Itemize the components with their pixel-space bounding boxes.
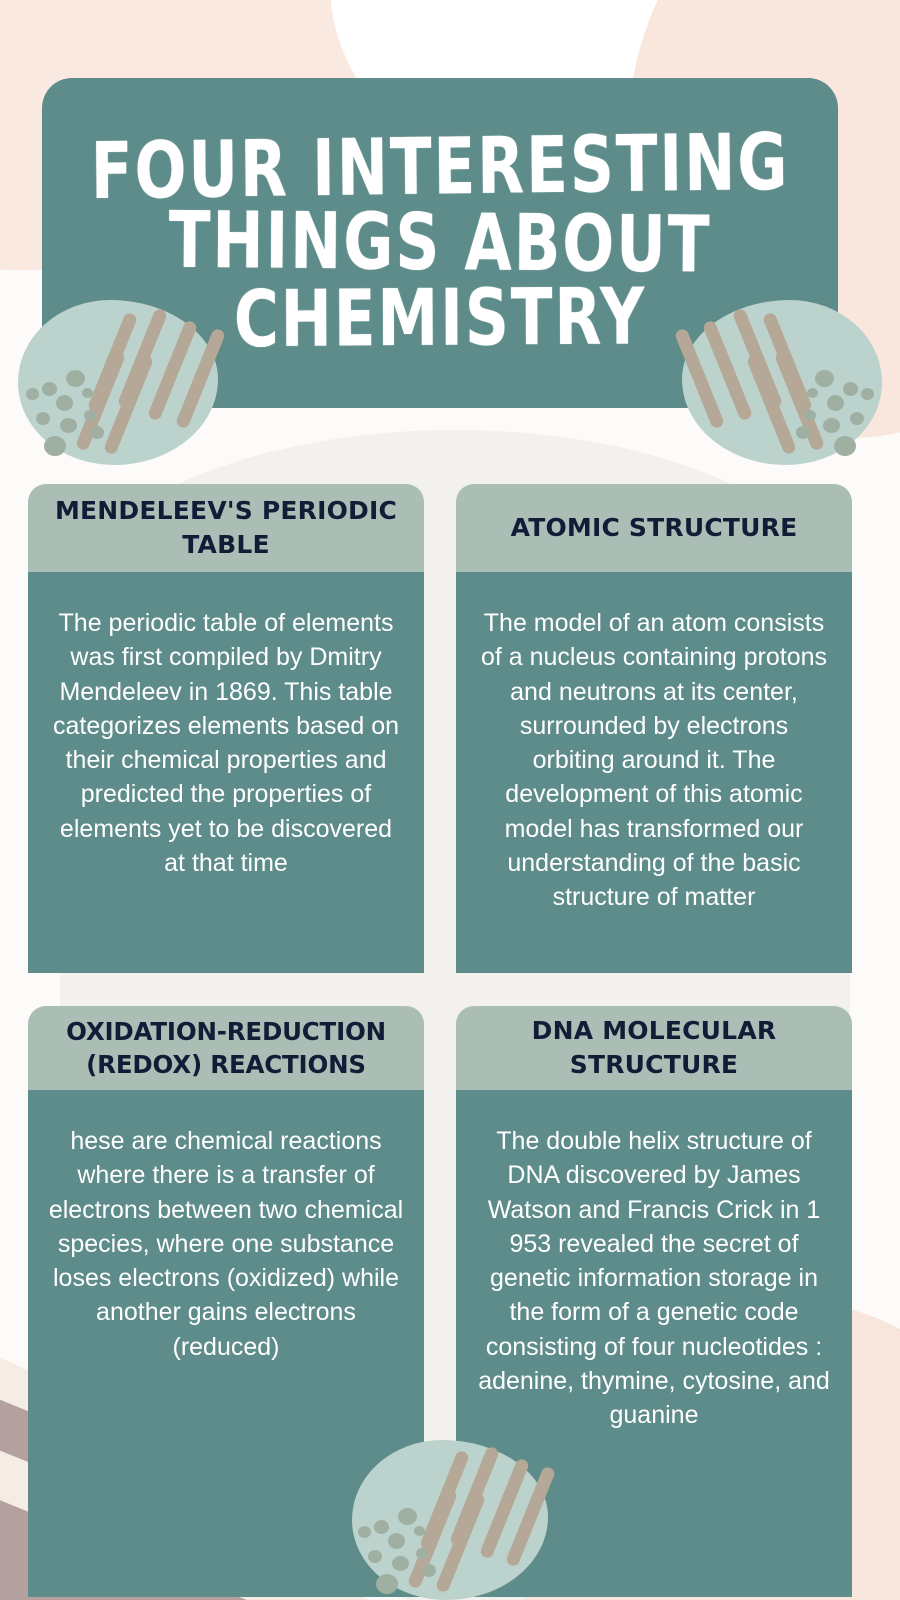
leaf-dot-icon	[861, 388, 874, 400]
leaf-dot-icon	[843, 382, 858, 396]
leaf-dot-icon	[66, 370, 85, 387]
leaf-dot-icon	[823, 418, 840, 433]
leaf-dot-icon	[850, 412, 864, 425]
leaf-dot-icon	[827, 395, 844, 411]
leaf-dot-icon	[56, 395, 73, 411]
leaf-dot-icon	[42, 382, 57, 396]
leaf-dot-icon	[374, 1520, 389, 1534]
fact-card-heading: MENDELEEV'S PERIODIC TABLE	[28, 484, 424, 572]
leaf-dot-icon	[26, 388, 39, 400]
leaf-dot-icon	[90, 426, 104, 439]
leaf-dot-icon	[796, 426, 810, 439]
leaf-cluster-icon-left	[18, 300, 218, 465]
fact-card-heading: DNA MOLECULAR STRUCTURE	[456, 1006, 852, 1090]
leaf-dot-icon	[392, 1556, 409, 1571]
infographic-poster: FOUR INTERESTING THINGS ABOUT CHEMISTRY	[0, 0, 900, 1600]
leaf-dot-icon	[60, 418, 77, 433]
leaf-dot-icon	[376, 1574, 398, 1594]
fact-card-body: The model of an atom consists of a nucle…	[456, 572, 852, 973]
fact-card-mendeleev: MENDELEEV'S PERIODIC TABLE The periodic …	[28, 484, 424, 973]
leaf-dot-icon	[36, 412, 50, 425]
leaf-dot-icon	[807, 388, 818, 398]
leaf-cluster-icon-bottom	[352, 1440, 548, 1600]
leaf-dot-icon	[416, 1548, 428, 1559]
leaf-dot-icon	[82, 388, 93, 398]
fact-card-atomic-structure: ATOMIC STRUCTURE The model of an atom co…	[456, 484, 852, 973]
fact-card-heading: OXIDATION-REDUCTION (REDOX) REACTIONS	[28, 1006, 424, 1090]
leaf-dot-icon	[398, 1508, 417, 1525]
leaf-dot-icon	[358, 1526, 371, 1538]
fact-card-heading: ATOMIC STRUCTURE	[456, 484, 852, 572]
leaf-dot-icon	[804, 410, 816, 421]
poster-title-line-2: THINGS ABOUT	[91, 202, 790, 284]
leaf-dot-icon	[44, 436, 66, 456]
leaf-dot-icon	[368, 1550, 382, 1563]
leaf-dot-icon	[422, 1564, 436, 1577]
fact-card-body: The periodic table of elements was first…	[28, 572, 424, 973]
leaf-dot-icon	[815, 370, 834, 387]
leaf-dot-icon	[84, 410, 96, 421]
leaf-dot-icon	[834, 436, 856, 456]
leaf-cluster-icon-right	[682, 300, 882, 465]
leaf-dot-icon	[414, 1526, 425, 1536]
leaf-dot-icon	[388, 1533, 405, 1549]
